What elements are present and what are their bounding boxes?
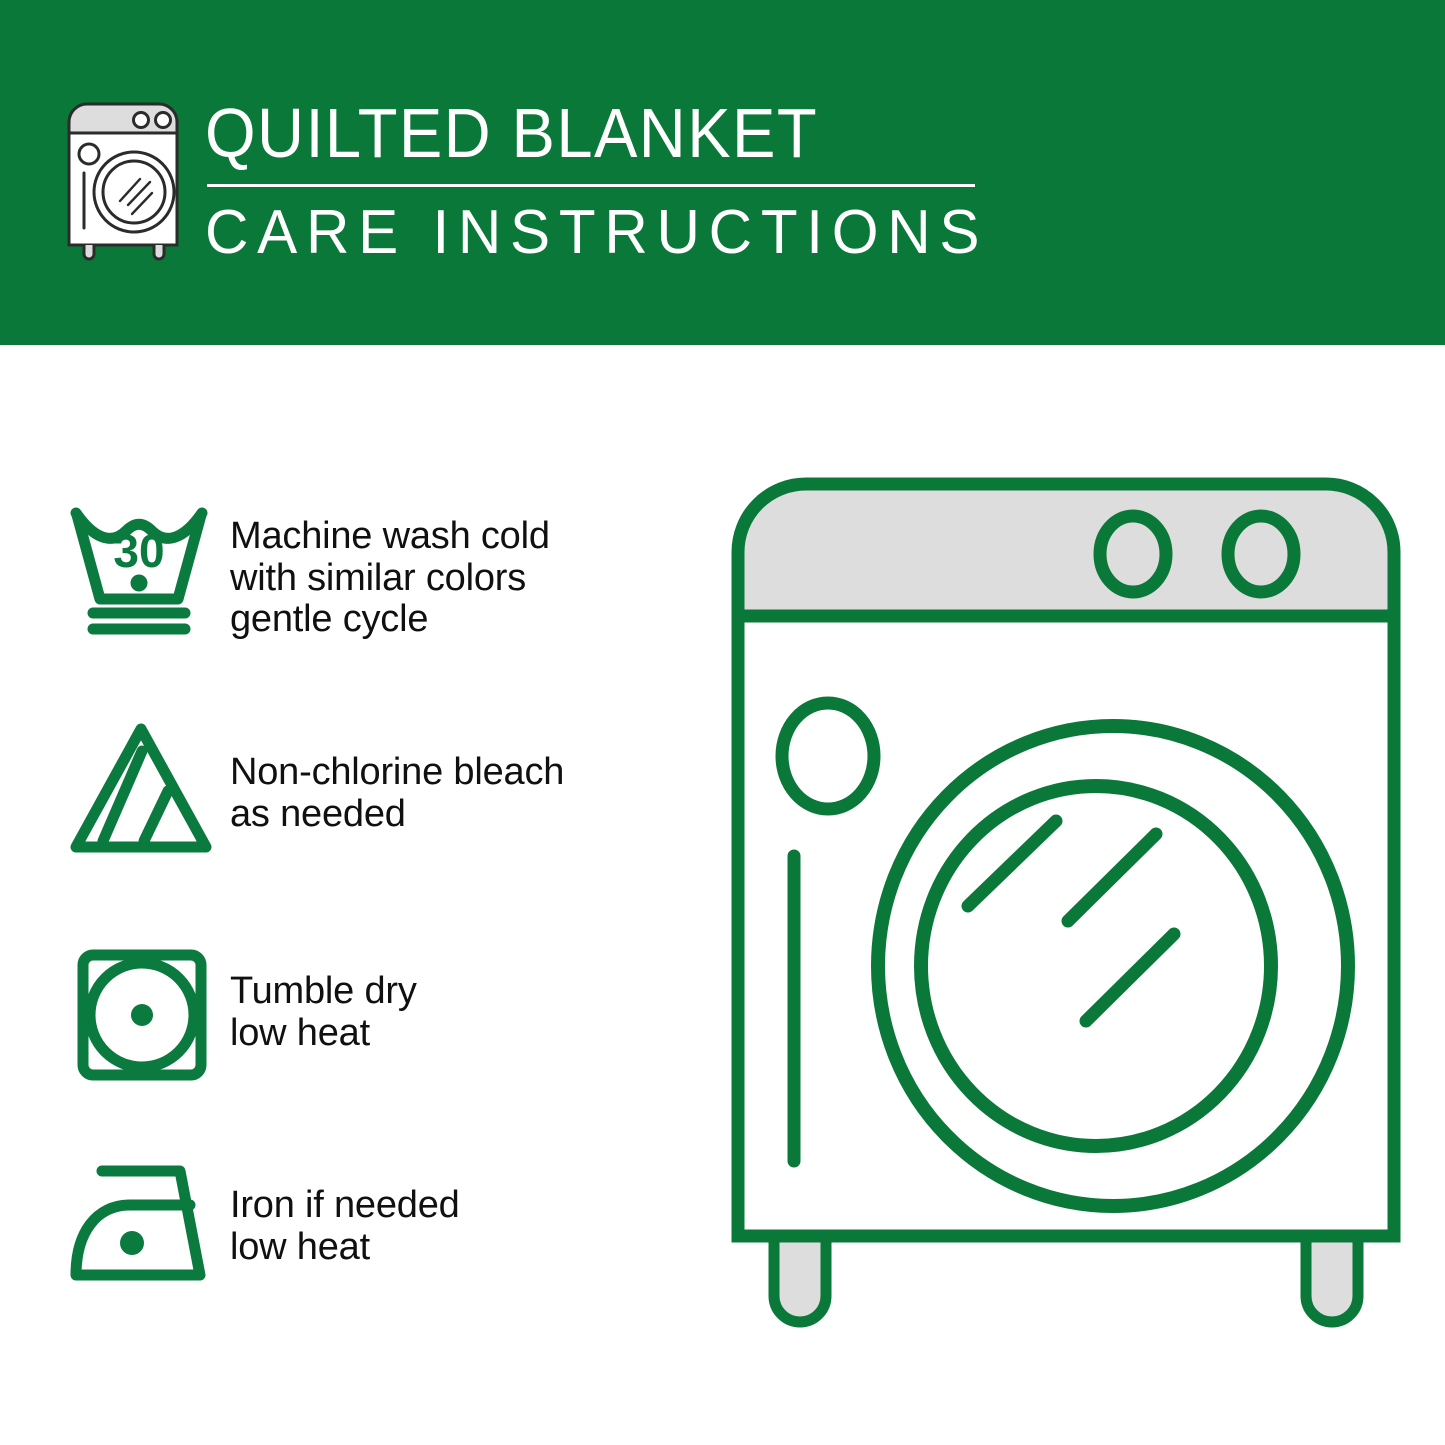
instruction-row-wash: 30 Machine wash cold with similar colors… (0, 495, 700, 641)
wash-temperature-label: 30 (113, 525, 164, 577)
care-instructions-page: QUILTED BLANKET CARE INSTRUCTIONS 30 (0, 0, 1445, 1445)
instruction-line: Machine wash cold (230, 516, 700, 558)
instruction-line: Non-chlorine bleach (230, 752, 700, 794)
title-divider (207, 184, 975, 187)
instruction-row-iron: Iron if needed low heat (0, 1155, 700, 1300)
instruction-line: with similar colors (230, 558, 700, 600)
instruction-line: Tumble dry (230, 971, 700, 1013)
tumble-dry-low-icon (0, 943, 230, 1088)
instruction-line: Iron if needed (230, 1185, 700, 1227)
header-title-block: QUILTED BLANKET CARE INSTRUCTIONS (205, 95, 995, 267)
instruction-line: as needed (230, 794, 700, 836)
non-chlorine-bleach-triangle-icon (0, 715, 230, 860)
wash-tub-30-gentle-icon: 30 (0, 495, 230, 640)
header-banner: QUILTED BLANKET CARE INSTRUCTIONS (0, 0, 1445, 345)
washing-machine-illustration (716, 466, 1416, 1366)
instruction-text-wash: Machine wash cold with similar colors ge… (230, 495, 700, 641)
instruction-line: gentle cycle (230, 599, 700, 641)
page-subtitle: CARE INSTRUCTIONS (205, 199, 971, 267)
instruction-row-bleach: Non-chlorine bleach as needed (0, 715, 700, 860)
instruction-list: 30 Machine wash cold with similar colors… (0, 345, 700, 1445)
page-title: QUILTED BLANKET (205, 95, 940, 171)
washing-machine-logo-icon (62, 100, 192, 255)
instruction-text-tumble-dry: Tumble dry low heat (230, 943, 700, 1054)
instruction-line: low heat (230, 1227, 700, 1269)
instruction-text-bleach: Non-chlorine bleach as needed (230, 715, 700, 835)
instruction-line: low heat (230, 1013, 700, 1055)
instruction-row-tumble-dry: Tumble dry low heat (0, 943, 700, 1088)
instruction-text-iron: Iron if needed low heat (230, 1155, 700, 1268)
iron-low-heat-icon (0, 1155, 230, 1300)
